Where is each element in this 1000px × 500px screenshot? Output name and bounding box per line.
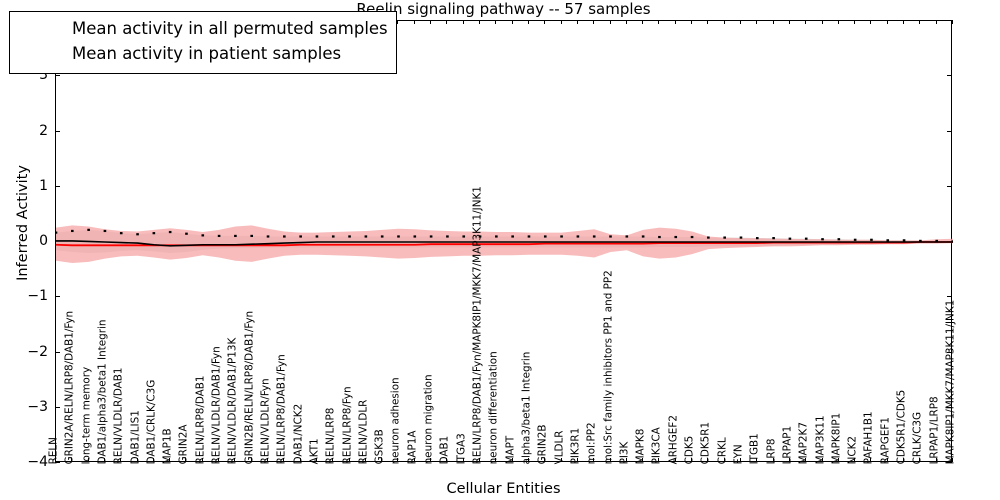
permuted-band-marker bbox=[772, 237, 775, 239]
x-tick-label: NCK2 bbox=[848, 436, 858, 464]
permuted-band-marker bbox=[674, 236, 677, 238]
x-tick-label: neuron differentiation bbox=[489, 351, 499, 464]
x-axis-tick-labels: RELNGRIN2A/RELN/LRP8/DAB1/Fynlong-term m… bbox=[55, 464, 952, 500]
legend-item-patient: Mean activity in patient samples bbox=[18, 42, 388, 67]
x-tick-label: mol:PP2 bbox=[587, 422, 597, 464]
x-tick-label: FYN bbox=[734, 444, 744, 464]
x-tick-label: RELN/VLDLR bbox=[358, 399, 368, 464]
permuted-band-marker bbox=[870, 239, 873, 241]
permuted-band-marker bbox=[136, 233, 139, 235]
x-tick-label: PAFAH1B1 bbox=[864, 411, 874, 464]
x-tick-label: DAB1/alpha3/beta1 Integrin bbox=[98, 319, 108, 464]
permuted-band-marker bbox=[414, 235, 417, 237]
permuted-band-marker bbox=[56, 232, 57, 234]
permuted-band-marker bbox=[886, 239, 889, 241]
permuted-band-marker bbox=[593, 235, 596, 237]
y-tick-label: −4 bbox=[0, 455, 48, 469]
x-tick-label: DAB1/NCK2 bbox=[293, 403, 303, 464]
x-tick-label: RELN/VLDLR/DAB1 bbox=[114, 367, 124, 464]
permuted-band-marker bbox=[723, 236, 726, 238]
permuted-band-marker bbox=[348, 235, 351, 237]
x-tick-label: CDK5R1 bbox=[701, 421, 711, 464]
permuted-band-marker bbox=[707, 236, 710, 238]
permuted-band-marker bbox=[234, 235, 237, 237]
x-tick-label: GRIN2A bbox=[179, 424, 189, 464]
permuted-band-marker bbox=[691, 236, 694, 238]
x-tick-label: MAPK8IP1/MKK7/MAP3K11/JNK1 bbox=[946, 299, 956, 464]
y-axis-label: Inferred Activity bbox=[15, 103, 31, 343]
permuted-band-marker bbox=[267, 235, 270, 237]
x-tick-label: VLDLR bbox=[554, 430, 564, 464]
x-tick-label: PI3K bbox=[619, 441, 629, 464]
x-tick-label: CDK5R1/CDK5 bbox=[897, 389, 907, 464]
permuted-band-marker bbox=[87, 229, 90, 231]
y-tick-label: 2 bbox=[0, 124, 48, 138]
y-tick-label: −3 bbox=[0, 400, 48, 414]
x-tick-label: AKT1 bbox=[310, 438, 320, 464]
permuted-band-marker bbox=[495, 235, 498, 237]
x-tick-label: MAPK8 bbox=[636, 428, 646, 464]
x-tick-label: MAPT bbox=[505, 435, 515, 464]
permuted-band-marker bbox=[120, 232, 123, 234]
permuted-band-marker bbox=[365, 235, 368, 237]
chart-legend: Mean activity in all permuted samples Me… bbox=[9, 11, 397, 74]
permuted-band-marker bbox=[838, 238, 841, 240]
permuted-band-marker bbox=[250, 235, 253, 237]
x-tick-label: LRP8 bbox=[766, 438, 776, 464]
permuted-band-marker bbox=[919, 240, 922, 242]
permuted-band-marker bbox=[756, 237, 759, 239]
legend-label-patient: Mean activity in patient samples bbox=[72, 46, 341, 63]
permuted-band-marker bbox=[169, 231, 172, 233]
x-tick-label: RELN/LRP8/DAB1/Fyn bbox=[277, 354, 287, 464]
permuted-band-marker bbox=[658, 236, 661, 238]
permuted-band-marker bbox=[511, 235, 514, 237]
y-tick-label: 0 bbox=[0, 234, 48, 248]
x-tick-label: GSK3B bbox=[375, 429, 385, 464]
permuted-band-marker bbox=[560, 235, 563, 237]
permuted-band-marker bbox=[854, 239, 857, 241]
x-tick-label: neuron migration bbox=[424, 374, 434, 464]
x-tick-label: long-term memory bbox=[81, 366, 91, 464]
y-tick-label: −2 bbox=[0, 345, 48, 359]
x-tick-label: RELN bbox=[49, 437, 59, 464]
legend-label-permuted: Mean activity in all permuted samples bbox=[72, 21, 388, 38]
legend-item-permuted: Mean activity in all permuted samples bbox=[18, 17, 388, 42]
permuted-band-marker bbox=[544, 235, 547, 237]
y-tick-label: 1 bbox=[0, 179, 48, 193]
x-tick-label: RELN/LRP8/DAB1/Fyn/MAPK8IP1/MKK7/MAP3K11… bbox=[473, 186, 483, 464]
permuted-band-marker bbox=[381, 235, 384, 237]
x-tick-label: RAPGEF1 bbox=[880, 417, 890, 464]
x-tick-label: neuron adhesion bbox=[391, 377, 401, 464]
x-tick-label: RAP1A bbox=[407, 430, 417, 464]
permuted-band-marker bbox=[740, 236, 743, 238]
permuted-band-marker bbox=[903, 239, 906, 241]
x-tick-label: RELN/VLDLR/Fyn bbox=[261, 378, 271, 464]
x-tick-label: MAP2K7 bbox=[799, 422, 809, 464]
permuted-band-marker bbox=[935, 240, 938, 242]
x-tick-label: RELN/LRP8/DAB1 bbox=[195, 375, 205, 464]
plot-svg bbox=[56, 21, 953, 463]
permuted-band-marker bbox=[299, 235, 302, 237]
x-tick-label: GRIN2A/RELN/LRP8/DAB1/Fyn bbox=[65, 311, 75, 464]
permuted-band-marker bbox=[104, 230, 107, 232]
x-tick-label: RELN/VLDLR/DAB1/P13K bbox=[228, 337, 238, 464]
x-tick-label: DAB1/LIS1 bbox=[130, 410, 140, 464]
x-tick-label: ARHGEF2 bbox=[668, 415, 678, 464]
permuted-band-marker bbox=[218, 235, 221, 237]
x-tick-label: LRPAP1/LRP8 bbox=[929, 396, 939, 464]
x-tick-label: PIK3R1 bbox=[570, 427, 580, 464]
permuted-band-marker bbox=[185, 233, 188, 235]
permuted-band-marker bbox=[430, 235, 433, 237]
permuted-band-marker bbox=[805, 238, 808, 240]
x-tick-label: MAPK8IP1 bbox=[831, 412, 841, 464]
permuted-band-marker bbox=[952, 240, 953, 242]
permuted-band-marker bbox=[642, 235, 645, 237]
x-tick-label: CRKL bbox=[717, 437, 727, 464]
chart-figure: Reelin signaling pathway -- 57 samples I… bbox=[0, 0, 1000, 500]
permuted-band-marker bbox=[201, 234, 204, 236]
x-tick-label: mol:Src family inhibitors PP1 and PP2 bbox=[603, 270, 613, 464]
permuted-band-marker bbox=[153, 232, 156, 234]
y-tick-label: −1 bbox=[0, 289, 48, 303]
permuted-band-marker bbox=[71, 230, 74, 232]
x-tick-label: PIK3CA bbox=[652, 427, 662, 464]
x-tick-label: alpha3/beta1 Integrin bbox=[522, 351, 532, 464]
permuted-band-marker bbox=[283, 235, 286, 237]
x-tick-label: GRIN2B/RELN/LRP8/DAB1/Fyn bbox=[244, 310, 254, 464]
permuted-band-marker bbox=[446, 235, 449, 237]
x-tick-label: ITGB1 bbox=[750, 433, 760, 464]
x-tick-label: LRPAP1 bbox=[783, 425, 793, 464]
permuted-band-marker bbox=[577, 235, 580, 237]
x-tick-label: DAB1 bbox=[440, 435, 450, 464]
x-tick-label: RELN/LRP8 bbox=[326, 407, 336, 464]
permuted-band-marker bbox=[626, 235, 629, 237]
permuted-band-marker bbox=[609, 235, 612, 237]
x-tick-label: MAP3K11 bbox=[815, 415, 825, 464]
x-tick-label: RELN/VLDLR/DAB1/Fyn bbox=[212, 346, 222, 464]
x-tick-label: DAB1/CRLK/C3G bbox=[146, 379, 156, 464]
x-tick-label: CDK5 bbox=[685, 435, 695, 464]
permuted-band-marker bbox=[821, 238, 824, 240]
plot-area bbox=[55, 20, 952, 462]
permuted-band-marker bbox=[397, 235, 400, 237]
x-tick-label: ITGA3 bbox=[456, 433, 466, 464]
permuted-band-marker bbox=[789, 238, 792, 240]
x-tick-label: GRIN2B bbox=[538, 424, 548, 464]
permuted-band-marker bbox=[332, 235, 335, 237]
x-tick-label: RELN/LRP8/Fyn bbox=[342, 386, 352, 464]
x-tick-label: CRLK/C3G bbox=[913, 412, 923, 465]
permuted-band-marker bbox=[316, 235, 319, 237]
permuted-band-marker bbox=[528, 235, 531, 237]
permuted-band-marker bbox=[462, 235, 465, 237]
x-tick-label: MAP1B bbox=[163, 428, 173, 464]
